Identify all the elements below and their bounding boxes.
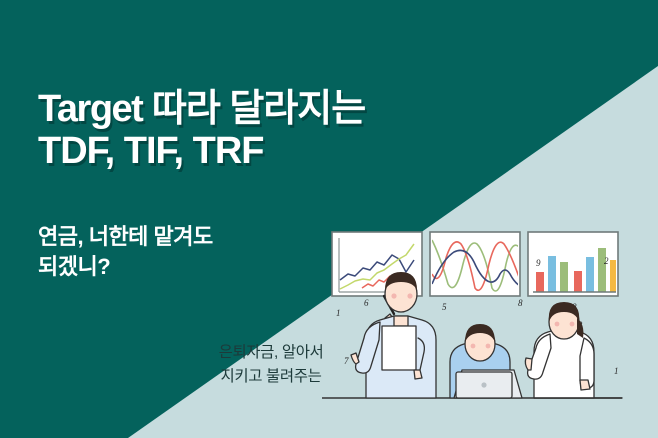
illustration: 1 6 7 5 8 9 4 8 9 2 3 1 bbox=[322, 222, 658, 438]
wave-chart-panel bbox=[430, 232, 520, 296]
subheadline-line2: 되겠니? bbox=[38, 252, 338, 282]
svg-text:2: 2 bbox=[604, 256, 609, 266]
svg-text:6: 6 bbox=[364, 298, 369, 308]
subheadline-line1: 연금, 너한테 맡겨도 bbox=[38, 222, 338, 252]
person-analyst bbox=[450, 324, 522, 398]
kicker-line2: 지키고 불려주는 bbox=[186, 365, 356, 389]
svg-text:1: 1 bbox=[336, 308, 341, 318]
kicker-text: 은퇴자금, 알아서 지키고 불려주는 bbox=[186, 341, 356, 389]
person-woman-pointing bbox=[525, 302, 622, 398]
headline-line2: TDF, TIF, TRF bbox=[38, 133, 458, 170]
svg-text:8: 8 bbox=[518, 298, 523, 308]
subheadline: 연금, 너한테 맡겨도 되겠니? bbox=[38, 222, 338, 283]
svg-text:9: 9 bbox=[536, 258, 541, 268]
headline-brand: Target bbox=[38, 88, 142, 130]
svg-text:1: 1 bbox=[614, 366, 619, 376]
svg-text:5: 5 bbox=[442, 302, 447, 312]
banner-canvas: 1 6 7 5 8 9 4 8 9 2 3 1 bbox=[0, 0, 658, 438]
headline-line1-rest: 따라 달라지는 bbox=[142, 88, 365, 130]
page-title: Target 따라 달라지는 TDF, TIF, TRF bbox=[38, 91, 458, 169]
kicker-line1: 은퇴자금, 알아서 bbox=[186, 341, 356, 365]
